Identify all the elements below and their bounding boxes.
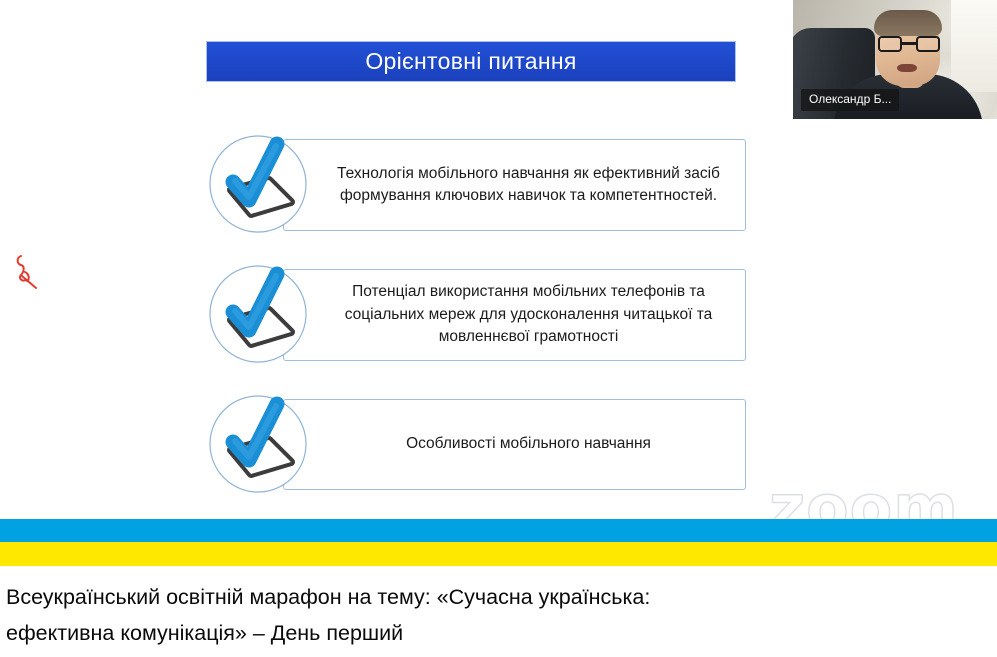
participant-mouth [897, 64, 917, 72]
blue-checkmark-checkbox-icon [205, 258, 311, 370]
bullet-text: Особливості мобільного навчання [406, 433, 651, 455]
video-window-light [951, 0, 997, 92]
flag-yellow-stripe [0, 542, 997, 566]
participant-video-tile[interactable]: Олександр Б... [793, 0, 997, 119]
glasses-right-lens [916, 36, 940, 52]
participant-hair [874, 10, 942, 36]
glasses-icon [878, 36, 940, 52]
bullet-text-box: Потенціал використання мобільних телефон… [283, 269, 746, 361]
bullet-text-box: Особливості мобільного навчання [283, 399, 746, 490]
red-annotation-mark [12, 252, 46, 296]
flag-blue-stripe [0, 519, 997, 542]
caption-block: Всеукраїнський освітній марафон на тему:… [6, 579, 926, 651]
caption-line-1: Всеукраїнський освітній марафон на тему:… [6, 579, 926, 615]
blue-checkmark-checkbox-icon [205, 128, 311, 240]
caption-line-2: ефективна комунікація» – День перший [6, 615, 926, 651]
participant-name-badge: Олександр Б... [801, 89, 899, 111]
blue-checkmark-checkbox-icon [205, 388, 311, 500]
glasses-bridge [902, 42, 916, 45]
slide-title-banner: Орієнтовні питання [207, 42, 735, 81]
slide-title-text: Орієнтовні питання [365, 48, 576, 75]
glasses-left-lens [878, 36, 902, 52]
bullet-text: Технологія мобільного навчання як ефекти… [326, 163, 731, 208]
bullet-text: Потенціал використання мобільних телефон… [326, 281, 731, 348]
ukraine-flag-bar [0, 519, 997, 566]
bullet-text-box: Технологія мобільного навчання як ефекти… [283, 139, 746, 231]
